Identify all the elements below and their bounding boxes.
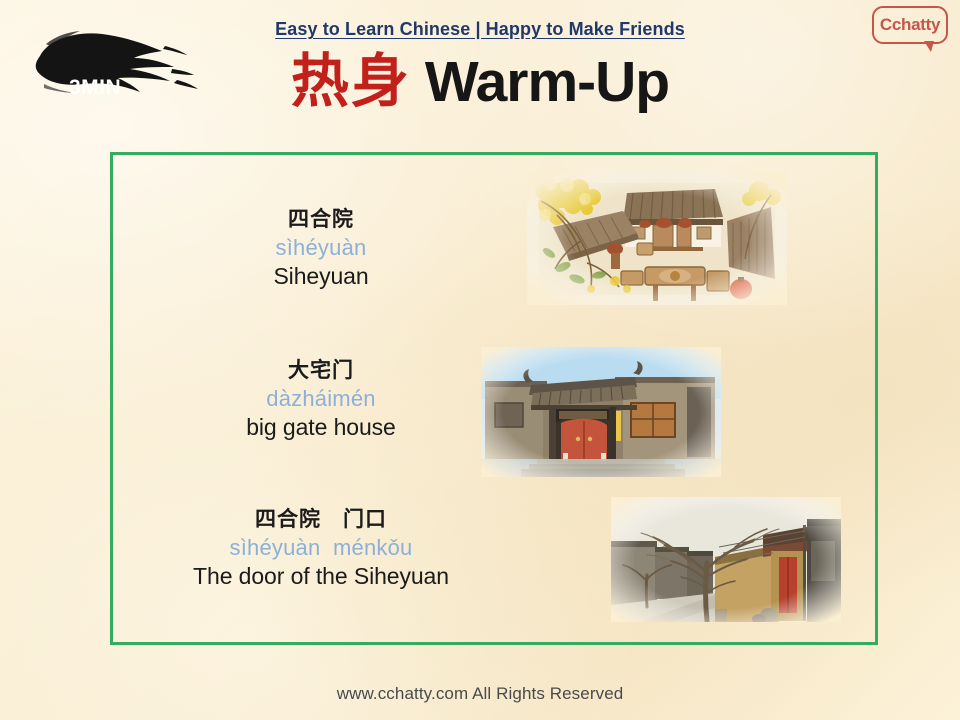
vocab-entry-2-text: 大宅门 dàzháimén big gate house: [171, 358, 471, 441]
footer-copyright: www.cchatty.com All Rights Reserved: [0, 684, 960, 704]
tagline-link[interactable]: Easy to Learn Chinese | Happy to Make Fr…: [0, 19, 960, 40]
warm-up-slide: 3MIN Cchatty Easy to Learn Chinese | Hap…: [0, 0, 960, 720]
vocab-entry-3-text: 四合院 门口 sìhéyuàn ménkǒu The door of the S…: [151, 507, 491, 590]
page-title: 热身 Warm-Up: [0, 52, 960, 111]
page-title-chinese: 热身: [291, 52, 411, 110]
page-title-english: Warm-Up: [425, 54, 669, 111]
hutong-alley-doorway-photo: [611, 497, 841, 622]
vocab-entry-1-hanzi: 四合院: [171, 207, 471, 232]
siheyuan-courtyard-painting: [527, 171, 787, 305]
vocab-entry-1-text: 四合院 sìhéyuàn Siheyuan: [171, 207, 471, 290]
vocab-entry-1-pinyin: sìhéyuàn: [171, 235, 471, 261]
content-frame: 四合院 sìhéyuàn Siheyuan: [110, 152, 878, 645]
vocab-entry-2-hanzi: 大宅门: [171, 358, 471, 383]
vocab-entry-1-english: Siheyuan: [171, 263, 471, 290]
speech-bubble-tail-icon: [924, 41, 934, 52]
big-gate-house-photo: [481, 347, 721, 477]
vocab-entry-3-pinyin: sìhéyuàn ménkǒu: [151, 535, 491, 561]
vocab-entry-3-english: The door of the Siheyuan: [151, 563, 491, 590]
vocab-entry-2-english: big gate house: [171, 414, 471, 441]
vocab-entry-2-pinyin: dàzháimén: [171, 386, 471, 412]
vocab-entry-3-hanzi: 四合院 门口: [151, 507, 491, 532]
